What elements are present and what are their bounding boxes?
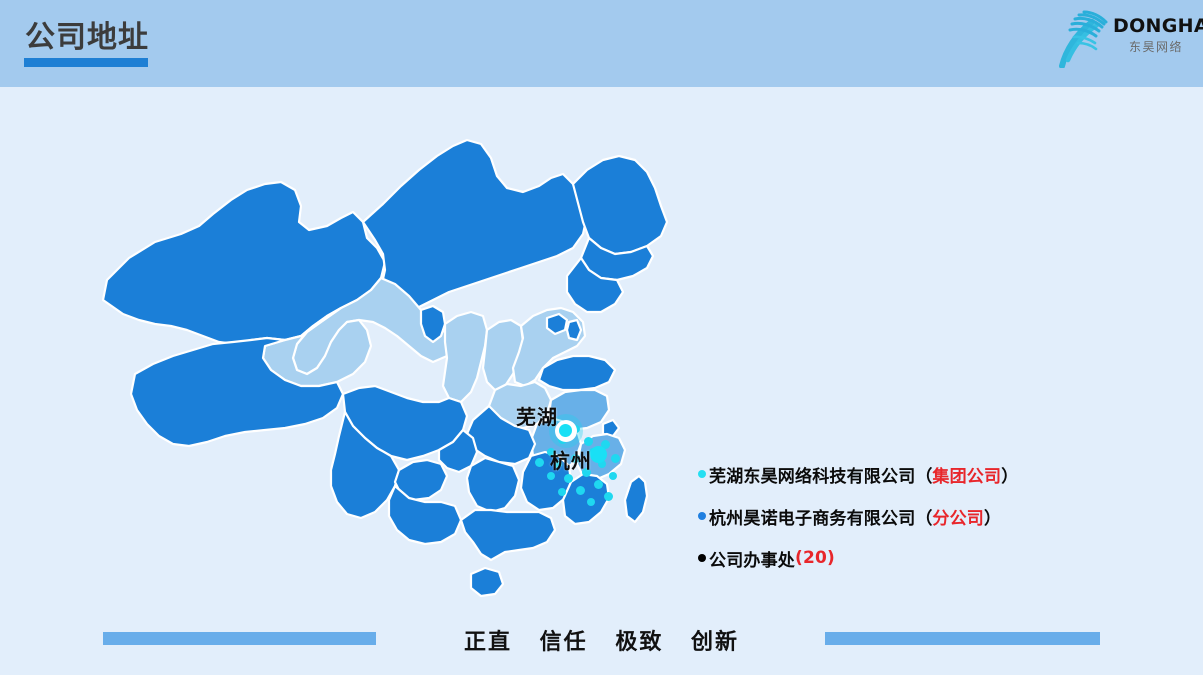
company-logo: DONGHAO 东昊网络 bbox=[1052, 8, 1197, 72]
province-hunan bbox=[467, 458, 519, 512]
legend-item-tag: 集团公司 bbox=[932, 462, 1001, 487]
legend-bullet-icon bbox=[698, 470, 706, 478]
office-dot bbox=[609, 472, 617, 480]
legend-item-tag: 分公司 bbox=[932, 504, 984, 529]
city-marker-hangzhou[interactable] bbox=[590, 446, 607, 463]
logo-text-block: DONGHAO 东昊网络 bbox=[1113, 16, 1199, 55]
header-band bbox=[0, 0, 1203, 87]
legend-close-paren: ） bbox=[1001, 462, 1018, 487]
china-map bbox=[95, 130, 735, 600]
wing-feather-mark-icon bbox=[1052, 10, 1112, 68]
office-dot bbox=[576, 486, 585, 495]
office-dot bbox=[564, 474, 573, 483]
legend-item-count: (20) bbox=[795, 548, 835, 568]
office-dot bbox=[558, 488, 566, 496]
city-label-wuhu: 芜湖 bbox=[516, 401, 558, 430]
logo-english-name: DONGHAO bbox=[1113, 16, 1199, 37]
city-label-hangzhou: 杭州 bbox=[550, 445, 592, 474]
legend-item-offices: 公司办事处 (20) bbox=[698, 546, 1098, 570]
legend-close-paren: ） bbox=[984, 504, 1001, 529]
slogan-word: 正直 bbox=[464, 630, 512, 655]
province-guangdong bbox=[461, 510, 555, 560]
slogan-word: 信任 bbox=[540, 630, 588, 655]
office-dot bbox=[587, 498, 595, 506]
office-dot bbox=[611, 454, 620, 463]
legend-item-label: 芜湖东昊网络科技有限公司 bbox=[709, 462, 915, 487]
footer-slogan: 正直 信任 极致 创新 bbox=[0, 624, 1203, 656]
province-taiwan bbox=[625, 476, 647, 522]
title-underline-accent bbox=[24, 58, 148, 67]
province-hainan bbox=[471, 568, 503, 596]
legend: 芜湖东昊网络科技有限公司 （ 集团公司 ） 杭州昊诺电子商务有限公司 （ 分公司… bbox=[698, 462, 1098, 588]
legend-open-paren: （ bbox=[915, 462, 932, 487]
slide-company-address: 公司地址 bbox=[0, 0, 1203, 675]
legend-item-branch-company: 杭州昊诺电子商务有限公司 （ 分公司 ） bbox=[698, 504, 1098, 528]
province-shaanxi bbox=[443, 312, 487, 402]
legend-bullet-icon bbox=[698, 512, 706, 520]
province-ningxia bbox=[421, 306, 445, 342]
province-heilongjiang bbox=[573, 156, 667, 254]
province-beijing bbox=[547, 314, 567, 334]
office-dot bbox=[535, 458, 544, 467]
legend-bullet-icon bbox=[698, 554, 706, 562]
page-title: 公司地址 bbox=[25, 19, 149, 57]
legend-item-label: 公司办事处 bbox=[709, 546, 795, 571]
legend-item-group-company: 芜湖东昊网络科技有限公司 （ 集团公司 ） bbox=[698, 462, 1098, 486]
slogan-word: 极致 bbox=[615, 630, 663, 655]
slogan-word: 创新 bbox=[691, 630, 739, 655]
office-dot bbox=[594, 480, 603, 489]
logo-chinese-name: 东昊网络 bbox=[1113, 39, 1199, 55]
legend-item-label: 杭州昊诺电子商务有限公司 bbox=[709, 504, 915, 529]
legend-open-paren: （ bbox=[915, 504, 932, 529]
office-dot bbox=[604, 492, 613, 501]
city-marker-wuhu[interactable] bbox=[559, 424, 572, 437]
province-tianjin bbox=[567, 320, 581, 340]
china-map-svg bbox=[95, 130, 735, 600]
